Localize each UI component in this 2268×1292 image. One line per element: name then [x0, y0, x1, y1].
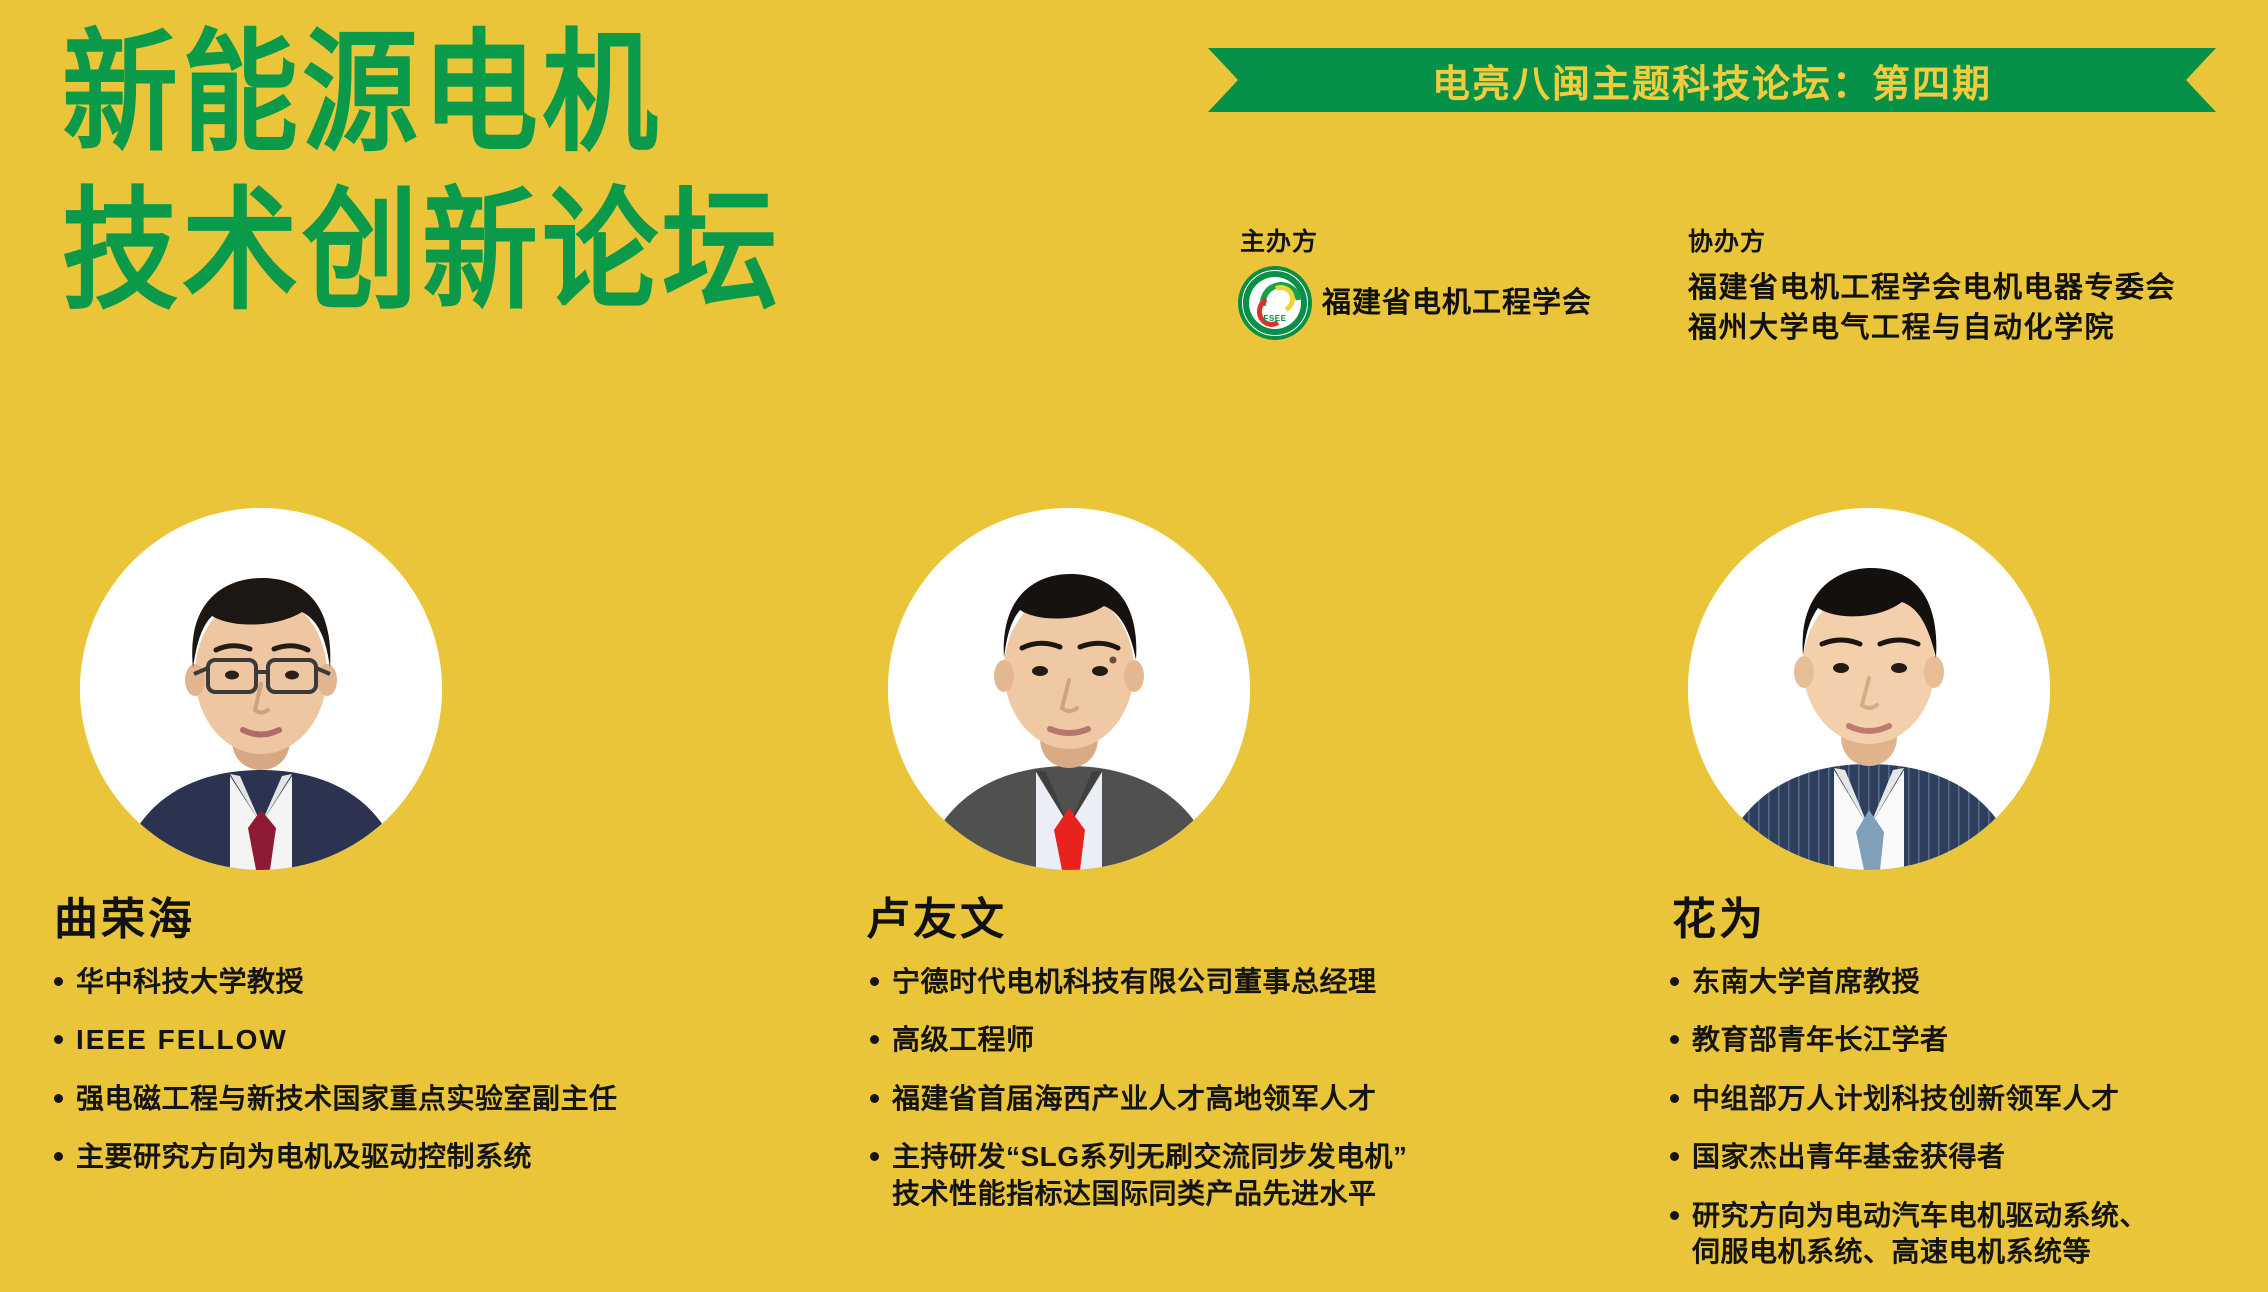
- list-item: 教育部青年长江学者: [1666, 1022, 2268, 1058]
- series-ribbon: 电亮八闽主题科技论坛：第四期: [1208, 48, 2216, 112]
- host-organizer-block: 主办方 FSEE 福建省电机工程学会: [1240, 222, 1592, 338]
- speaker-card-1: 曲荣海 华中科技大学教授 IEEE FELLOW 强电磁工程与新技术国家重点实验…: [44, 508, 744, 1198]
- speaker-card-2: 卢友文 宁德时代电机科技有限公司董事总经理 高级工程师 福建省首届海西产业人才高…: [852, 508, 1552, 1234]
- list-item: 东南大学首席教授: [1666, 964, 2268, 1000]
- fsee-logo-text: FSEE: [1240, 314, 1310, 323]
- speaker-3-bullets: 东南大学首席教授 教育部青年长江学者 中组部万人计划科技创新领军人才 国家杰出青…: [1666, 964, 2268, 1270]
- list-item: 强电磁工程与新技术国家重点实验室副主任: [50, 1081, 744, 1117]
- list-item: 宁德时代电机科技有限公司董事总经理: [866, 964, 1552, 1000]
- speaker-2-bullets: 宁德时代电机科技有限公司董事总经理 高级工程师 福建省首届海西产业人才高地领军人…: [866, 964, 1552, 1212]
- title-line-1: 新能源电机: [62, 28, 782, 160]
- list-item: 研究方向为电动汽车电机驱动系统、 伺服电机系统、高速电机系统等: [1666, 1198, 2268, 1271]
- speaker-2-portrait: [888, 508, 1250, 870]
- list-item: 福建省首届海西产业人才高地领军人才: [866, 1081, 1552, 1117]
- list-item: 国家杰出青年基金获得者: [1666, 1139, 2268, 1175]
- host-organizer-label: 主办方: [1240, 222, 1592, 258]
- poster-canvas: 新能源电机 技术创新论坛 电亮八闽主题科技论坛：第四期 主办方 FSEE 福建省…: [0, 0, 2268, 1274]
- list-item: 中组部万人计划科技创新领军人才: [1666, 1081, 2268, 1117]
- co-organizer-name-2: 福州大学电气工程与自动化学院: [1688, 308, 2176, 348]
- list-item: IEEE FELLOW: [50, 1022, 744, 1058]
- co-organizer-label: 协办方: [1688, 222, 2176, 258]
- fsee-logo-icon: FSEE: [1240, 268, 1310, 338]
- speaker-2-name: 卢友文: [866, 898, 1552, 942]
- speaker-3-portrait: [1688, 508, 2050, 870]
- host-organizer-name: 福建省电机工程学会: [1322, 283, 1592, 323]
- series-ribbon-label: 电亮八闽主题科技论坛：第四期: [1432, 53, 1992, 108]
- speaker-card-3: 花为 东南大学首席教授 教育部青年长江学者 中组部万人计划科技创新领军人才 国家…: [1652, 508, 2268, 1292]
- list-item: 华中科技大学教授: [50, 964, 744, 1000]
- list-item: 高级工程师: [866, 1022, 1552, 1058]
- poster-title: 新能源电机 技术创新论坛: [62, 28, 782, 302]
- co-organizer-name-1: 福建省电机工程学会电机电器专委会: [1688, 268, 2176, 308]
- speaker-1-bullets: 华中科技大学教授 IEEE FELLOW 强电磁工程与新技术国家重点实验室副主任…: [50, 964, 744, 1176]
- title-line-2: 技术创新论坛: [62, 186, 782, 318]
- co-organizer-block: 协办方 福建省电机工程学会电机电器专委会 福州大学电气工程与自动化学院: [1688, 222, 2176, 348]
- speaker-1-name: 曲荣海: [54, 898, 744, 942]
- speaker-1-portrait: [80, 508, 442, 870]
- speaker-3-name: 花为: [1672, 898, 2268, 942]
- list-item: 主要研究方向为电机及驱动控制系统: [50, 1139, 744, 1175]
- list-item: 主持研发“SLG系列无刷交流同步发电机” 技术性能指标达国际同类产品先进水平: [866, 1139, 1552, 1212]
